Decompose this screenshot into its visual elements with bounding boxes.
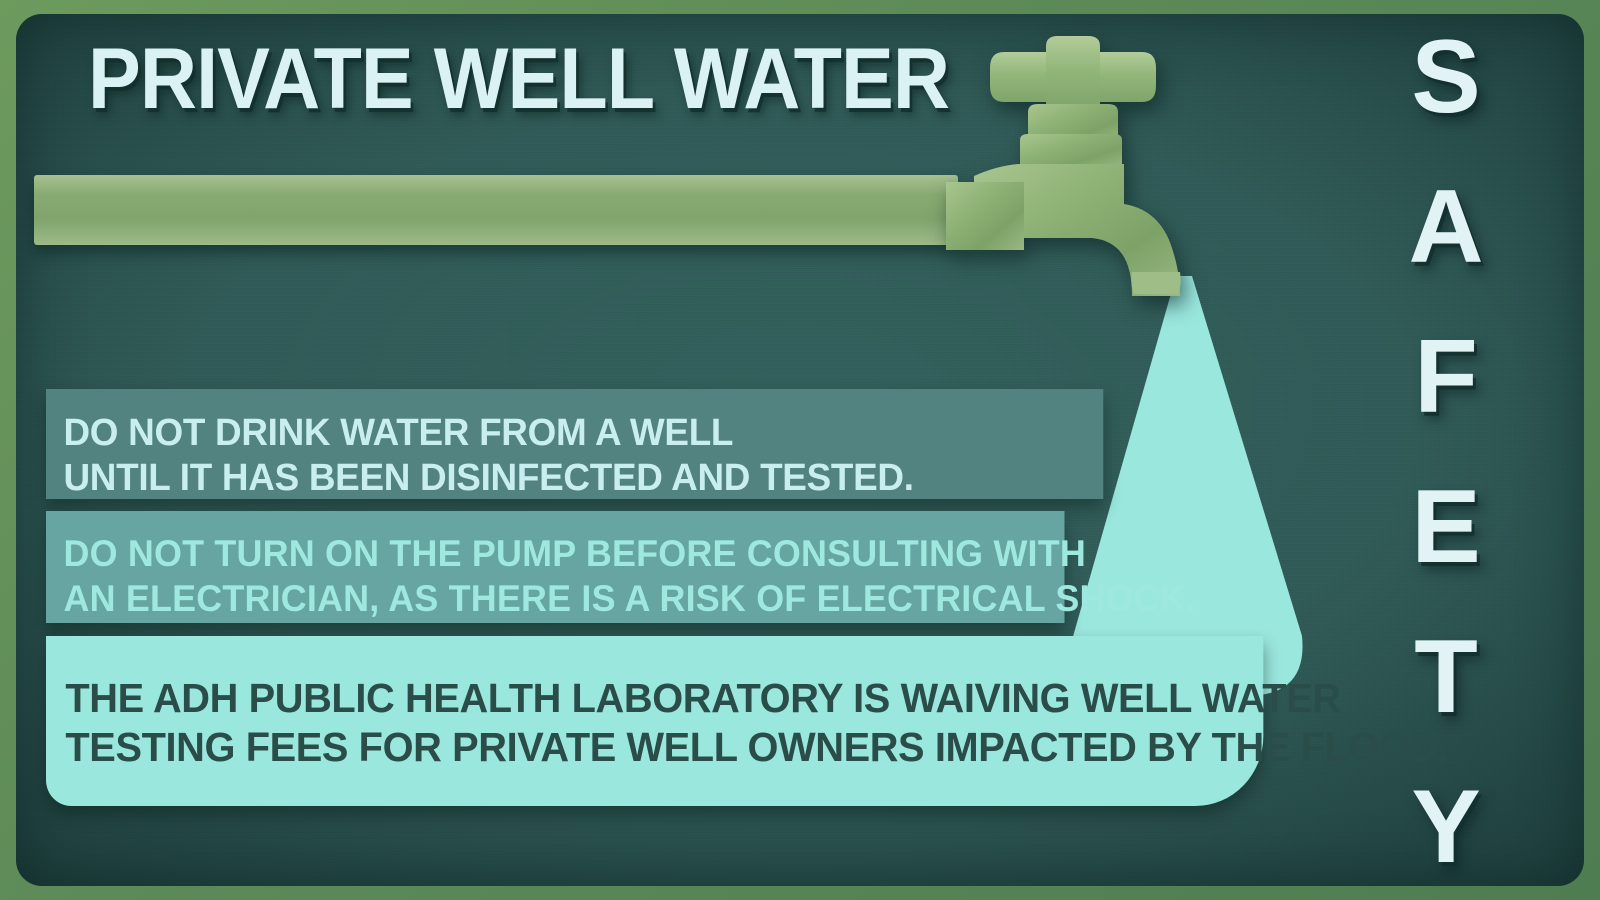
message-line: DO NOT DRINK WATER FROM A WELL xyxy=(63,411,1103,456)
message-line: DO NOT TURN ON THE PUMP BEFORE CONSULTIN… xyxy=(63,531,1064,576)
message-line: THE ADH PUBLIC HEALTH LABORATORY IS WAIV… xyxy=(65,674,1263,723)
poster-card: DO NOT DRINK WATER FROM A WELL UNTIL IT … xyxy=(16,14,1584,886)
message-line: UNTIL IT HAS BEEN DISINFECTED AND TESTED… xyxy=(63,456,1103,501)
horizontal-pipe-bar xyxy=(34,175,958,245)
faucet-tap-icon xyxy=(946,32,1246,302)
safety-letter-a: A xyxy=(1408,178,1483,278)
message-block-do-not-turn-on-pump: DO NOT TURN ON THE PUMP BEFORE CONSULTIN… xyxy=(46,511,1065,623)
vertical-safety-word: S A F E T Y xyxy=(1366,28,1526,878)
safety-letter-t: T xyxy=(1414,628,1478,728)
message-line: AN ELECTRICIAN, AS THERE IS A RISK OF EL… xyxy=(63,576,1064,621)
safety-letter-f: F xyxy=(1414,328,1478,428)
page-title: PRIVATE WELL WATER xyxy=(88,36,949,122)
safety-letter-s: S xyxy=(1411,28,1480,128)
safety-letter-e: E xyxy=(1411,478,1480,578)
message-block-adh-lab-waiving-fees: THE ADH PUBLIC HEALTH LABORATORY IS WAIV… xyxy=(46,636,1263,806)
message-block-do-not-drink: DO NOT DRINK WATER FROM A WELL UNTIL IT … xyxy=(46,389,1103,499)
safety-letter-y: Y xyxy=(1411,778,1480,878)
poster-frame: DO NOT DRINK WATER FROM A WELL UNTIL IT … xyxy=(0,0,1600,900)
message-line: TESTING FEES FOR PRIVATE WELL OWNERS IMP… xyxy=(65,723,1263,772)
